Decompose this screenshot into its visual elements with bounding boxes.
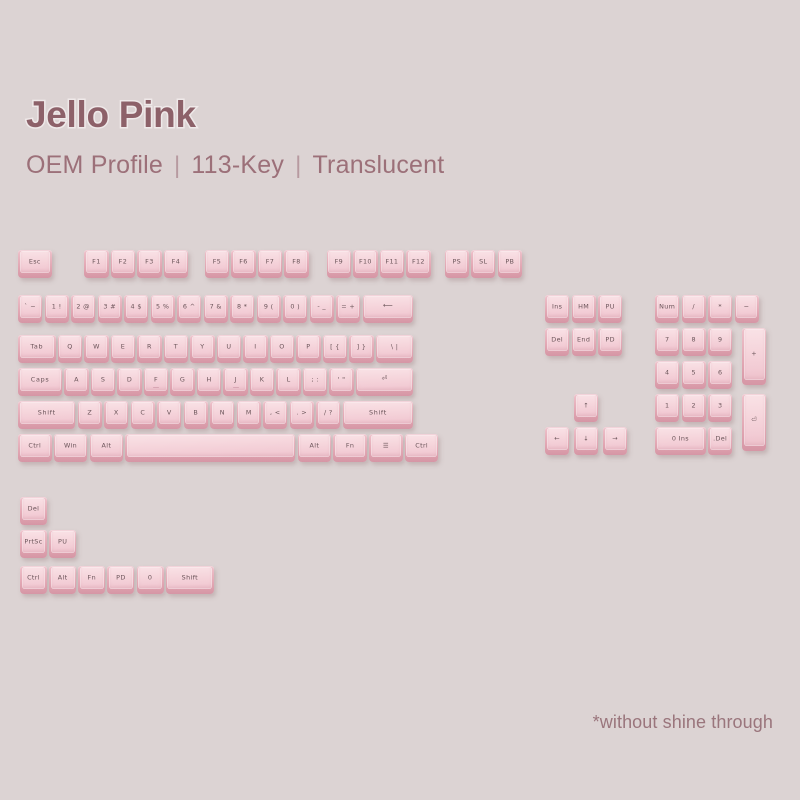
keycap-legend: M: [246, 409, 252, 416]
keycap-legend: F10: [359, 258, 372, 265]
keycap-top-face: \ |: [377, 336, 412, 359]
keycap-legend: Esc: [29, 258, 41, 265]
key-5[interactable]: 5 %: [151, 295, 175, 323]
keycap-legend: Z: [87, 409, 92, 416]
keycap-top-face: Alt: [91, 435, 122, 458]
key-f[interactable]: F: [144, 368, 168, 396]
keycap-legend: L: [287, 376, 291, 383]
key-numpad-enter[interactable]: ⏎: [742, 394, 766, 451]
key-ctrl-right[interactable]: Ctrl: [405, 434, 439, 462]
keycap-top-face: 9: [710, 329, 731, 352]
keycap-top-face: 7: [657, 329, 678, 352]
keycap-legend: 1: [665, 402, 669, 409]
keycap-legend: Del: [28, 505, 40, 512]
key-print-screen[interactable]: PS: [445, 250, 469, 278]
keycap-top-face: / ?: [318, 402, 339, 425]
keycap-legend: /: [692, 303, 695, 310]
keycap-top-face: 0: [138, 567, 162, 590]
keycap-top-face: B: [185, 402, 206, 425]
keycap-legend: 9: [718, 336, 722, 343]
key-j[interactable]: J: [223, 368, 247, 396]
keycap-top-face: G: [172, 369, 193, 392]
keycap-legend: B: [193, 409, 198, 416]
keycap-top-face: ` ~: [20, 296, 41, 319]
keycap-legend: , <: [270, 409, 280, 416]
keycap-top-face: F2: [112, 251, 133, 274]
keycap-top-face: F12: [408, 251, 429, 274]
key-numpad-1[interactable]: 1: [655, 394, 679, 422]
footnote-text: *without shine through: [593, 712, 773, 733]
keycap-legend: P: [306, 343, 310, 350]
key-f11[interactable]: F11: [380, 250, 404, 278]
key-2[interactable]: 2 @: [71, 295, 95, 323]
keycap-top-face: Del: [547, 329, 568, 352]
key-home[interactable]: HM: [572, 295, 596, 323]
keycap-legend: Caps: [31, 376, 50, 383]
key-x[interactable]: X: [104, 401, 128, 429]
keycap-top-face: R: [139, 336, 160, 359]
keycap-legend: Q: [67, 343, 72, 350]
keycap-top-face: S: [92, 369, 113, 392]
keycap-top-face: PD: [109, 567, 133, 590]
keycap-legend: PD: [605, 336, 614, 343]
key-c[interactable]: C: [131, 401, 155, 429]
keycap-legend: 3: [718, 402, 722, 409]
keycap-legend: ' ": [338, 376, 346, 383]
keycap-legend: Alt: [101, 442, 111, 449]
key-k[interactable]: K: [250, 368, 274, 396]
key-numpad-8[interactable]: 8: [682, 328, 706, 356]
keycap-top-face: J: [225, 369, 246, 392]
key-w[interactable]: W: [84, 335, 108, 363]
keycap-top-face: [127, 435, 294, 458]
key-r[interactable]: R: [137, 335, 161, 363]
keycap-top-face: 1: [657, 395, 678, 418]
key-quote[interactable]: ' ": [329, 368, 353, 396]
key-arrow-right[interactable]: →: [603, 427, 627, 455]
keycap-legend: PU: [58, 538, 67, 545]
key-shift-right[interactable]: Shift: [343, 401, 414, 429]
key-delete[interactable]: Del: [545, 328, 569, 356]
keycap-legend: PD: [116, 574, 125, 581]
key-minus[interactable]: - _: [310, 295, 334, 323]
key-end[interactable]: End: [572, 328, 596, 356]
keycap-top-face: →: [605, 428, 626, 451]
keycap-top-face: Z: [79, 402, 100, 425]
key-e[interactable]: E: [111, 335, 135, 363]
key-z[interactable]: Z: [78, 401, 102, 429]
keycap-legend: Fn: [88, 574, 96, 581]
key-m[interactable]: M: [237, 401, 261, 429]
keycap-top-face: SL: [473, 251, 494, 274]
key-ctrl-left[interactable]: Ctrl: [18, 434, 52, 462]
keycap-legend: PB: [505, 258, 514, 265]
keycap-top-face: F8: [286, 251, 307, 274]
keycap-top-face: F10: [355, 251, 376, 274]
key-equal[interactable]: = +: [336, 295, 360, 323]
key-numpad-divide[interactable]: /: [682, 295, 706, 323]
key-extra-fn[interactable]: Fn: [78, 566, 105, 594]
keycap-top-face: F: [145, 369, 166, 392]
keycap-top-face: O: [271, 336, 292, 359]
keycap-top-face: F9: [328, 251, 349, 274]
key-alt-left[interactable]: Alt: [90, 434, 124, 462]
keycap-top-face: Q: [59, 336, 80, 359]
keycap-legend: ` ~: [24, 303, 36, 310]
keycap-top-face: −: [736, 296, 757, 319]
keycap-top-face: 5: [683, 362, 704, 385]
keycap-legend: Ins: [552, 303, 562, 310]
key-d[interactable]: D: [117, 368, 141, 396]
key-bracket-left[interactable]: [ {: [323, 335, 347, 363]
keycap-legend: F4: [172, 258, 180, 265]
keycap-top-face: 6 ^: [179, 296, 200, 319]
key-pause-break[interactable]: PB: [498, 250, 522, 278]
keycap-top-face: Fn: [335, 435, 366, 458]
keycap-legend: End: [577, 336, 590, 343]
keycap-legend: / ?: [324, 409, 333, 416]
keycap-legend: ⏎: [382, 376, 388, 383]
key-v[interactable]: V: [157, 401, 181, 429]
key-h[interactable]: H: [197, 368, 221, 396]
key-extra-alt[interactable]: Alt: [49, 566, 76, 594]
key-numpad-7[interactable]: 7: [655, 328, 679, 356]
keycap-top-face: P: [298, 336, 319, 359]
keycap-top-face: 0 ): [285, 296, 306, 319]
keycap-top-face: ↓: [576, 428, 597, 451]
key-arrow-left[interactable]: ←: [545, 427, 569, 455]
key-extra-page-down[interactable]: PD: [107, 566, 134, 594]
key-0[interactable]: 0 ): [283, 295, 307, 323]
keycap-top-face: /: [683, 296, 704, 319]
keycap-top-face: A: [66, 369, 87, 392]
keycap-top-face: W: [86, 336, 107, 359]
keycap-legend: ⏎: [751, 416, 757, 423]
keycap-legend: Alt: [309, 442, 319, 449]
keycap-legend: Y: [200, 343, 204, 350]
key-enter[interactable]: ⏎: [356, 368, 413, 396]
key-9[interactable]: 9 (: [257, 295, 281, 323]
key-y[interactable]: Y: [190, 335, 214, 363]
keycap-legend: ] }: [357, 343, 367, 350]
keycap-legend: *: [718, 303, 722, 310]
key-s[interactable]: S: [91, 368, 115, 396]
key-6[interactable]: 6 ^: [177, 295, 201, 323]
key-bracket-right[interactable]: ] }: [349, 335, 373, 363]
keycap-legend: 2 @: [76, 303, 90, 310]
keycap-top-face: L: [278, 369, 299, 392]
keycap-legend: F3: [145, 258, 153, 265]
keycap-legend: U: [226, 343, 231, 350]
keycap-legend: 6: [718, 369, 722, 376]
key-7[interactable]: 7 &: [204, 295, 228, 323]
key-space[interactable]: [125, 434, 295, 462]
keycap-legend: ↑: [583, 402, 589, 409]
keycap-top-face: F3: [139, 251, 160, 274]
keycap-top-face: 8 *: [232, 296, 253, 319]
key-arrow-down[interactable]: ↓: [574, 427, 598, 455]
key-numpad-multiply[interactable]: *: [708, 295, 732, 323]
key-f1[interactable]: F1: [84, 250, 108, 278]
keycap-legend: - _: [317, 303, 326, 310]
key-f2[interactable]: F2: [111, 250, 135, 278]
keycap-top-face: 0 Ins: [657, 428, 705, 451]
key-b[interactable]: B: [184, 401, 208, 429]
keycap-legend: D: [127, 376, 132, 383]
keycap-legend: 5: [691, 369, 695, 376]
keycap-top-face: K: [251, 369, 272, 392]
keycap-legend: T: [174, 343, 178, 350]
keycap-top-face: F6: [233, 251, 254, 274]
key-comma[interactable]: , <: [263, 401, 287, 429]
key-arrow-up[interactable]: ↑: [574, 394, 598, 422]
key-f6[interactable]: F6: [231, 250, 255, 278]
key-f5[interactable]: F5: [205, 250, 229, 278]
keycap-legend: 0: [148, 574, 152, 581]
key-extra-ctrl[interactable]: Ctrl: [20, 566, 47, 594]
key-numpad-2[interactable]: 2: [682, 394, 706, 422]
key-numpad-9[interactable]: 9: [708, 328, 732, 356]
keycap-top-face: 7 &: [205, 296, 226, 319]
key-fn[interactable]: Fn: [333, 434, 367, 462]
key-f10[interactable]: F10: [353, 250, 377, 278]
keycap-top-face: Ctrl: [406, 435, 437, 458]
key-i[interactable]: I: [243, 335, 267, 363]
keycap-legend: F: [154, 376, 158, 383]
keycap-legend: Ctrl: [27, 574, 40, 581]
key-slash[interactable]: / ?: [316, 401, 340, 429]
keycap-legend: 7: [665, 336, 669, 343]
keycap-legend: O: [279, 343, 284, 350]
key-alt-right[interactable]: Alt: [298, 434, 332, 462]
keycap-top-face: I: [245, 336, 266, 359]
keycap-legend: F12: [412, 258, 425, 265]
keycap-top-face: Win: [55, 435, 86, 458]
key-f8[interactable]: F8: [284, 250, 308, 278]
keycap-top-face: 5 %: [152, 296, 173, 319]
key-caps-lock[interactable]: Caps: [18, 368, 62, 396]
keycap-top-face: 2 @: [73, 296, 94, 319]
keycap-legend: 0 Ins: [672, 435, 689, 442]
keycap-legend: Shift: [38, 409, 56, 416]
keycap-top-face: Fn: [80, 567, 104, 590]
keycap-top-face: 4: [657, 362, 678, 385]
keycap-top-face: End: [573, 329, 594, 352]
keycap-legend: F1: [92, 258, 100, 265]
key-1[interactable]: 1 !: [45, 295, 69, 323]
keycap-top-face: Shift: [20, 402, 74, 425]
keycap-legend: PU: [606, 303, 615, 310]
keycap-legend: V: [167, 409, 172, 416]
keycap-top-face: H: [198, 369, 219, 392]
keycap-top-face: 3 #: [99, 296, 120, 319]
keycap-top-face: Alt: [299, 435, 330, 458]
key-grave[interactable]: ` ~: [18, 295, 42, 323]
keycap-legend: I: [254, 343, 256, 350]
keycap-top-face: [ {: [324, 336, 345, 359]
key-n[interactable]: N: [210, 401, 234, 429]
keycap-legend: PS: [452, 258, 461, 265]
keycap-legend: 8 *: [237, 303, 247, 310]
keycap-legend: F9: [335, 258, 343, 265]
keycap-top-face: ] }: [351, 336, 372, 359]
keycap-legend: Ctrl: [28, 442, 41, 449]
keycap-top-face: *: [710, 296, 731, 319]
keycap-top-face: C: [132, 402, 153, 425]
keycap-top-face: - _: [311, 296, 332, 319]
key-numpad-minus[interactable]: −: [735, 295, 759, 323]
keycap-legend: F5: [213, 258, 221, 265]
keycap-legend: 1 !: [52, 303, 62, 310]
key-a[interactable]: A: [64, 368, 88, 396]
key-scroll-lock[interactable]: SL: [471, 250, 495, 278]
key-extra-delete[interactable]: Del: [20, 497, 47, 525]
keycap-top-face: PU: [600, 296, 621, 319]
keycap-legend: Alt: [58, 574, 68, 581]
keycap-top-face: Ins: [547, 296, 568, 319]
keycap-top-face: 4 $: [126, 296, 147, 319]
keycap-top-face: F5: [206, 251, 227, 274]
keycap-legend: A: [74, 376, 79, 383]
keycap-legend: Win: [64, 442, 77, 449]
keycap-legend: \ |: [391, 343, 398, 350]
keycap-legend: F11: [385, 258, 398, 265]
keycap-legend: →: [612, 435, 618, 442]
key-backslash[interactable]: \ |: [376, 335, 414, 363]
key-esc[interactable]: Esc: [18, 250, 52, 278]
keycap-top-face: T: [165, 336, 186, 359]
key-numpad-0[interactable]: 0 Ins: [655, 427, 706, 455]
key-3[interactable]: 3 #: [98, 295, 122, 323]
key-l[interactable]: L: [276, 368, 300, 396]
keycap-legend: PrtSc: [24, 538, 42, 545]
key-numpad-plus[interactable]: +: [742, 328, 766, 385]
keycap-legend: .Del: [713, 435, 727, 442]
key-tab[interactable]: Tab: [18, 335, 56, 363]
keycap-top-face: E: [112, 336, 133, 359]
keycap-legend: S: [101, 376, 105, 383]
keycap-top-face: PS: [446, 251, 467, 274]
key-numpad-decimal[interactable]: .Del: [708, 427, 732, 455]
keycap-legend: 3 #: [103, 303, 116, 310]
keycap-top-face: +: [744, 329, 765, 381]
key-win[interactable]: Win: [54, 434, 88, 462]
key-numpad-4[interactable]: 4: [655, 361, 679, 389]
key-f9[interactable]: F9: [327, 250, 351, 278]
keycap-legend: R: [147, 343, 152, 350]
keycap-top-face: .Del: [710, 428, 731, 451]
keycap-top-face: M: [238, 402, 259, 425]
key-extra-zero[interactable]: 0: [137, 566, 164, 594]
key-f12[interactable]: F12: [406, 250, 430, 278]
key-g[interactable]: G: [170, 368, 194, 396]
keycap-legend: Shift: [182, 574, 198, 581]
keycap-top-face: Esc: [20, 251, 51, 274]
keycap-legend: 0 ): [290, 303, 300, 310]
keycap-top-face: , <: [265, 402, 286, 425]
keycap-legend: 6 ^: [183, 303, 196, 310]
key-numpad-6[interactable]: 6: [708, 361, 732, 389]
key-4[interactable]: 4 $: [124, 295, 148, 323]
keycap-top-face: ' ": [331, 369, 352, 392]
key-semicolon[interactable]: ; :: [303, 368, 327, 396]
keycap-legend: 9 (: [264, 303, 274, 310]
key-page-up[interactable]: PU: [598, 295, 622, 323]
keycap-legend: . >: [297, 409, 307, 416]
keycap-top-face: N: [212, 402, 233, 425]
keycap-top-face: Shift: [344, 402, 412, 425]
key-extra-page-up[interactable]: PU: [49, 530, 76, 558]
key-shift-left[interactable]: Shift: [18, 401, 75, 429]
key-extra-shift[interactable]: Shift: [166, 566, 214, 594]
key-menu[interactable]: ☰: [369, 434, 403, 462]
keycap-legend: ⟵: [383, 303, 393, 310]
key-o[interactable]: O: [270, 335, 294, 363]
keycap-top-face: Ctrl: [22, 567, 46, 590]
keycap-legend: C: [140, 409, 145, 416]
key-insert[interactable]: Ins: [545, 295, 569, 323]
key-numpad-5[interactable]: 5: [682, 361, 706, 389]
keycap-legend: Tab: [30, 343, 43, 350]
keycap-legend: Num: [659, 303, 675, 310]
keycap-top-face: ⏎: [744, 395, 765, 447]
keycap-top-face: Del: [22, 498, 46, 521]
key-f4[interactable]: F4: [164, 250, 188, 278]
keycap-legend: [ {: [330, 343, 340, 350]
keycap-legend: ; :: [311, 376, 318, 383]
key-t[interactable]: T: [164, 335, 188, 363]
keycap-top-face: = +: [338, 296, 359, 319]
keycap-top-face: U: [218, 336, 239, 359]
keycap-top-face: X: [106, 402, 127, 425]
keycap-top-face: Shift: [167, 567, 212, 590]
keycap-legend: SL: [479, 258, 487, 265]
keycap-top-face: Ctrl: [20, 435, 51, 458]
key-u[interactable]: U: [217, 335, 241, 363]
key-page-down[interactable]: PD: [598, 328, 622, 356]
key-f7[interactable]: F7: [258, 250, 282, 278]
keycap-legend: 4: [665, 369, 669, 376]
key-num-lock[interactable]: Num: [655, 295, 679, 323]
key-period[interactable]: . >: [290, 401, 314, 429]
key-numpad-3[interactable]: 3: [708, 394, 732, 422]
keycap-legend: 7 &: [210, 303, 222, 310]
keycap-top-face: F4: [165, 251, 186, 274]
key-backspace[interactable]: ⟵: [363, 295, 414, 323]
keycap-legend: 5 %: [156, 303, 169, 310]
keycap-top-face: 1 !: [46, 296, 67, 319]
keycap-top-face: 6: [710, 362, 731, 385]
keycap-legend: F8: [292, 258, 300, 265]
keycap-legend: K: [260, 376, 265, 383]
keycap-top-face: V: [159, 402, 180, 425]
key-f3[interactable]: F3: [137, 250, 161, 278]
keycap-top-face: 8: [683, 329, 704, 352]
keycap-top-face: 3: [710, 395, 731, 418]
keycap-legend: +: [751, 350, 757, 357]
keycap-top-face: Y: [192, 336, 213, 359]
keycap-legend: X: [114, 409, 119, 416]
key-extra-print-screen[interactable]: PrtSc: [20, 530, 47, 558]
key-8[interactable]: 8 *: [230, 295, 254, 323]
keycap-top-face: Num: [657, 296, 678, 319]
keycap-top-face: 9 (: [258, 296, 279, 319]
keycap-top-face: ☰: [371, 435, 402, 458]
key-q[interactable]: Q: [58, 335, 82, 363]
keycap-top-face: ←: [547, 428, 568, 451]
key-p[interactable]: P: [296, 335, 320, 363]
keycap-top-face: ↑: [576, 395, 597, 418]
